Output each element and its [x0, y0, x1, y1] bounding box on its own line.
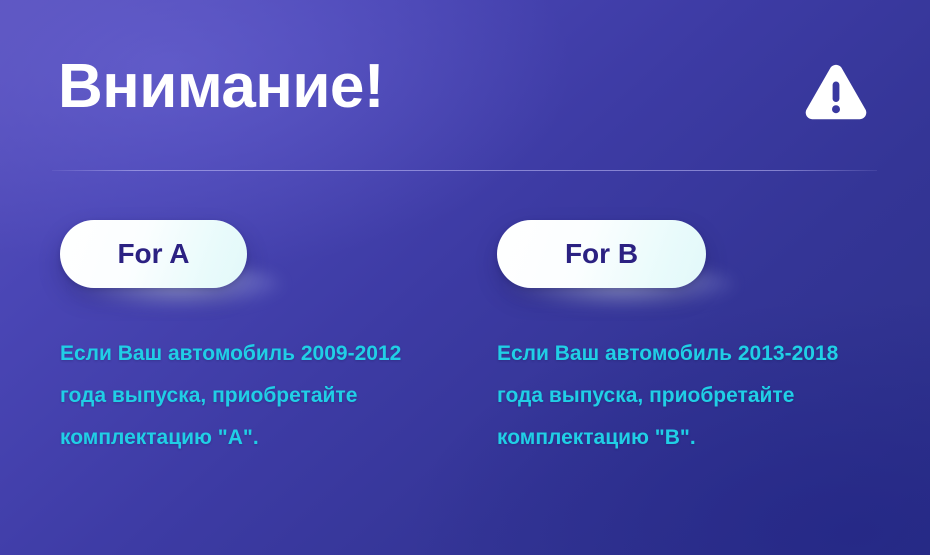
banner-header: Внимание! — [58, 52, 872, 132]
pill-wrapper-a: For A — [60, 220, 460, 292]
option-column-a: For A Если Ваш автомобиль 2009-2012 года… — [60, 220, 460, 459]
pill-wrapper-b: For B — [497, 220, 897, 292]
for-a-button[interactable]: For A — [60, 220, 247, 288]
options-columns: For A Если Ваш автомобиль 2009-2012 года… — [0, 220, 930, 470]
page-title: Внимание! — [58, 52, 384, 122]
header-divider — [52, 170, 877, 171]
for-a-button-label: For A — [117, 240, 189, 268]
option-a-description: Если Ваш автомобиль 2009-2012 года выпус… — [60, 333, 445, 459]
attention-banner: Внимание! For A Если Ваш автомобиль 2009… — [0, 0, 930, 555]
warning-triangle-icon — [804, 64, 868, 124]
option-column-b: For B Если Ваш автомобиль 2013-2018 года… — [497, 220, 897, 459]
for-b-button[interactable]: For B — [497, 220, 706, 288]
for-b-button-label: For B — [565, 240, 638, 268]
option-b-description: Если Ваш автомобиль 2013-2018 года выпус… — [497, 333, 882, 459]
